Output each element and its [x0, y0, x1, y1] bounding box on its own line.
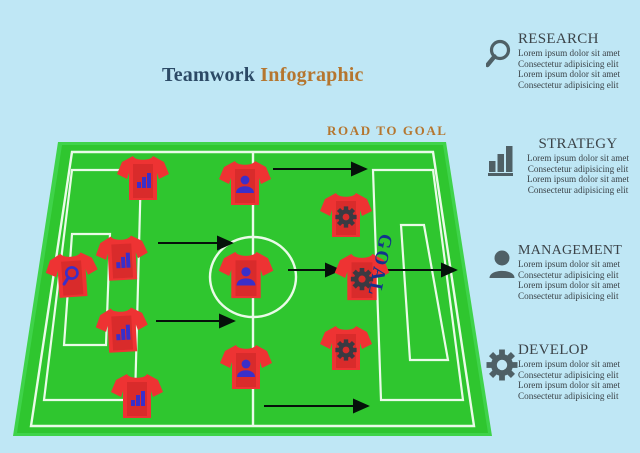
pass-arrows	[156, 169, 456, 406]
section-research-line-1: Lorem ipsum dolor sit amet	[518, 48, 638, 59]
title-primary: Teamwork	[162, 64, 255, 86]
section-research-heading: RESEARCH	[518, 32, 638, 47]
section-management-text: MANAGEMENT Lorem ipsum dolor sit amet Co…	[518, 243, 638, 301]
section-develop-heading: DEVELOP	[518, 343, 638, 358]
title-secondary: Infographic	[260, 64, 363, 86]
jersey-panel	[236, 353, 256, 387]
section-strategy-text: STRATEGY Lorem ipsum dolor sit amet Cons…	[518, 137, 638, 195]
section-develop-line-2: Consectetur adipisicing elit	[518, 370, 638, 381]
page-title: Teamwork Infographic	[162, 64, 364, 87]
section-research-line-2: Consectetur adipisicing elit	[518, 59, 638, 70]
section-develop-line-3: Lorem ipsum dolor sit amet	[518, 380, 638, 391]
section-management-line-3: Lorem ipsum dolor sit amet	[518, 280, 638, 291]
section-develop-text: DEVELOP Lorem ipsum dolor sit amet Conse…	[518, 343, 638, 401]
player-jersey[interactable]	[95, 307, 149, 354]
gear-icon	[486, 347, 520, 383]
jersey-panel	[236, 260, 257, 296]
person-icon	[486, 247, 520, 283]
section-strategy-heading: STRATEGY	[518, 137, 638, 152]
player-jersey[interactable]	[95, 235, 149, 282]
road-to-goal-label: ROAD TO GOAL	[327, 123, 448, 139]
player-jersey[interactable]	[219, 161, 271, 205]
section-develop-line-4: Consectetur adipisicing elit	[518, 391, 638, 402]
jersey-panel	[235, 169, 255, 203]
player-jerseys	[45, 156, 390, 418]
section-management-line-4: Consectetur adipisicing elit	[518, 291, 638, 302]
section-management-heading: MANAGEMENT	[518, 243, 638, 258]
section-research-text: RESEARCH Lorem ipsum dolor sit amet Cons…	[518, 32, 638, 90]
player-jersey[interactable]	[111, 374, 163, 418]
player-jersey[interactable]	[45, 251, 100, 299]
section-strategy-line-3: Lorem ipsum dolor sit amet	[518, 174, 638, 185]
section-research-line-4: Consectetur adipisicing elit	[518, 80, 638, 91]
infographic-canvas: Teamwork Infographic ROAD TO GOAL GOAL R…	[0, 0, 640, 453]
section-strategy-line-4: Consectetur adipisicing elit	[518, 185, 638, 196]
magnifier-icon	[486, 36, 520, 72]
player-jersey[interactable]	[220, 345, 272, 389]
section-strategy-line-1: Lorem ipsum dolor sit amet	[518, 153, 638, 164]
section-strategy-line-2: Consectetur adipisicing elit	[518, 164, 638, 175]
section-management-line-1: Lorem ipsum dolor sit amet	[518, 259, 638, 270]
player-jersey[interactable]	[320, 326, 372, 370]
bar-chart-icon	[486, 141, 520, 177]
section-develop-line-1: Lorem ipsum dolor sit amet	[518, 359, 638, 370]
player-jersey[interactable]	[117, 156, 169, 200]
section-research-line-3: Lorem ipsum dolor sit amet	[518, 69, 638, 80]
player-jersey[interactable]	[320, 193, 372, 237]
gear-icon	[335, 206, 356, 227]
player-jersey[interactable]	[219, 252, 274, 298]
gear-icon	[335, 339, 356, 360]
section-management-line-2: Consectetur adipisicing elit	[518, 270, 638, 281]
